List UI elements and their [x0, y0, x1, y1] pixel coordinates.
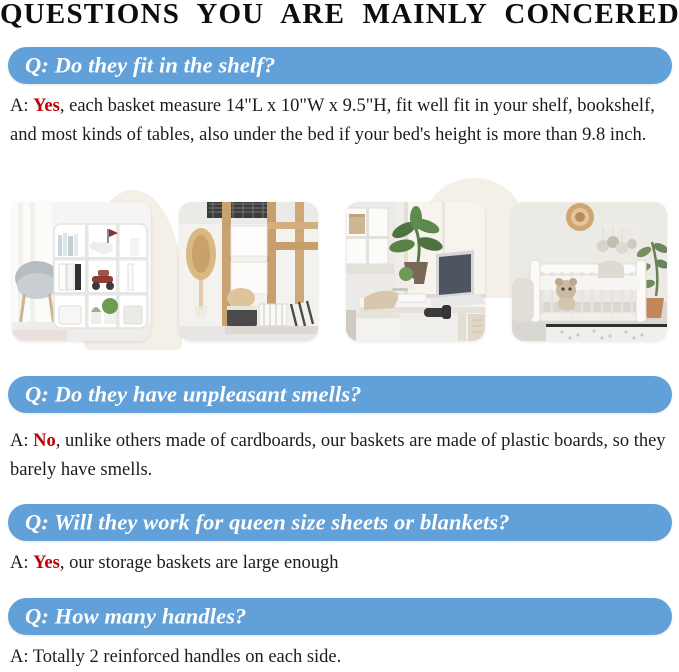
faq-question-text-3: Q: Will they work for queen size sheets …: [25, 509, 510, 535]
faq-answer-4: A: Totally 2 reinforced handles on each …: [10, 643, 674, 672]
faq-question-text-4: Q: How many handles?: [25, 603, 246, 629]
faq-answer-prefix-4: A:: [10, 647, 33, 667]
page-title: QUESTIONS YOU ARE MAINLY CONCERED: [0, 0, 679, 31]
gallery-image-3[interactable]: [346, 202, 485, 341]
gallery-image-2[interactable]: [179, 202, 318, 341]
gallery-image-1[interactable]: [12, 202, 151, 341]
faq-answer-prefix-3: A:: [10, 553, 33, 573]
faq-answer-rest-1: , each basket measure 14"L x 10"W x 9.5"…: [10, 96, 655, 145]
faq-answer-2: A: No, unlike others made of cardboards,…: [10, 427, 674, 485]
faq-answer-3: A: Yes, our storage baskets are large en…: [10, 549, 674, 578]
gallery: [0, 186, 679, 354]
faq-answer-prefix-2: A:: [10, 431, 33, 451]
faq-answer-rest-4: Totally 2 reinforced handles on each sid…: [33, 647, 341, 667]
gallery-image-4[interactable]: [512, 202, 667, 341]
faq-answer-rest-3: , our storage baskets are large enough: [60, 553, 339, 573]
faq-answer-highlight-3: Yes: [33, 553, 60, 573]
faq-answer-1: A: Yes, each basket measure 14"L x 10"W …: [10, 92, 674, 150]
faq-question-banner-1: Q: Do they fit in the shelf?: [8, 47, 672, 84]
faq-question-text-2: Q: Do they have unpleasant smells?: [25, 381, 362, 407]
faq-question-banner-2: Q: Do they have unpleasant smells?: [8, 376, 672, 413]
faq-question-banner-3: Q: Will they work for queen size sheets …: [8, 504, 672, 541]
faq-answer-rest-2: , unlike others made of cardboards, our …: [10, 431, 666, 480]
faq-question-text-1: Q: Do they fit in the shelf?: [25, 52, 275, 78]
faq-question-banner-4: Q: How many handles?: [8, 598, 672, 635]
faq-answer-highlight-2: No: [33, 431, 56, 451]
faq-answer-prefix-1: A:: [10, 96, 33, 116]
faq-answer-highlight-1: Yes: [33, 96, 60, 116]
